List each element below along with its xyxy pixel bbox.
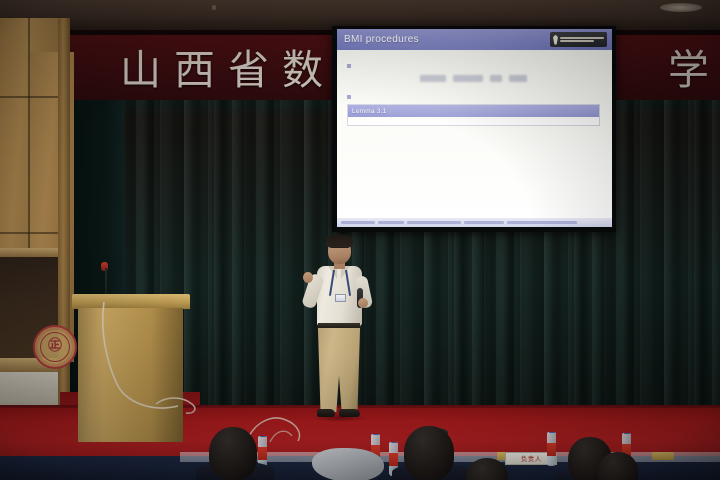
slide-equation	[347, 75, 600, 82]
speaker-shoe-left	[317, 409, 335, 417]
audience-head	[404, 426, 454, 480]
ceiling-fixture-dot	[212, 5, 216, 10]
university-seal-glyph: ㊣	[40, 332, 70, 362]
slide-title: BMI procedures	[344, 34, 419, 45]
slide-footer-navigation[interactable]	[337, 218, 612, 227]
slide-bullet-1	[347, 60, 600, 68]
university-seal: ㊣	[33, 325, 77, 369]
slide-body: Lemma 3.1	[337, 50, 612, 218]
projection-screen-frame: BMI procedures	[332, 26, 616, 232]
speaker-belt	[318, 323, 360, 328]
ceiling-light	[660, 3, 702, 12]
nameplate-text: 负责人	[521, 454, 542, 463]
photograph-scene: 山西省数 学术年 BMI procedures	[0, 0, 720, 480]
logo-shield-icon	[553, 35, 558, 45]
banner-text-right: 学术年	[668, 41, 720, 99]
speaker-hair	[326, 234, 353, 248]
speaker-shoe-right	[339, 409, 360, 417]
lectern-top	[72, 294, 190, 309]
slide-title-bar: BMI procedures	[337, 29, 612, 50]
slide-bullet-2	[347, 91, 600, 99]
bag-on-desk	[312, 448, 384, 480]
speaker-trousers	[317, 326, 361, 412]
lemma-header: Lemma 3.1	[348, 105, 599, 117]
projection-screen: BMI procedures	[337, 29, 612, 227]
logo-wordmark	[560, 37, 604, 43]
lemma-block: Lemma 3.1	[347, 104, 600, 126]
bullet-marker-icon	[347, 64, 351, 68]
presentation-slide: BMI procedures	[337, 29, 612, 227]
university-logo-badge	[550, 32, 607, 47]
speaker-hand-right	[358, 298, 368, 308]
bullet-marker-icon	[347, 95, 351, 99]
speaker-presenter	[300, 232, 378, 428]
lemma-body	[348, 117, 599, 125]
eyeglasses-icon	[330, 247, 349, 252]
desk-plate	[652, 452, 674, 460]
lectern	[72, 294, 190, 442]
lanyard-badge	[335, 294, 346, 302]
audience-head	[209, 427, 257, 480]
lemma-label: Lemma 3.1	[352, 108, 386, 115]
banner-text-left: 山西省数	[120, 41, 336, 99]
wood-seam	[0, 96, 64, 98]
speaker-hand-left	[303, 272, 313, 283]
water-bottle	[547, 432, 556, 466]
wood-seam	[0, 232, 64, 234]
wall-niche-lip	[0, 248, 58, 257]
